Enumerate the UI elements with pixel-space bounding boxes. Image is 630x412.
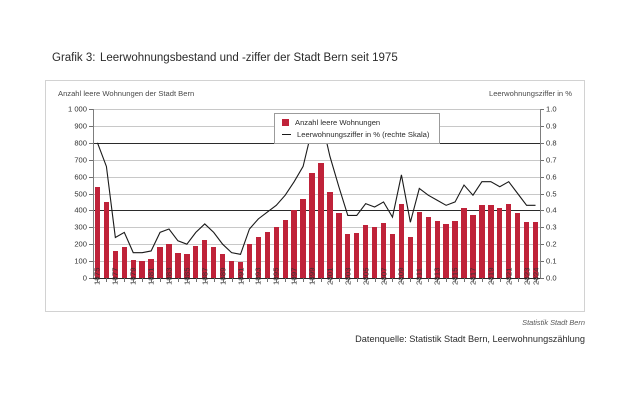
x-tick-label: 1995 <box>272 267 281 285</box>
x-tick-label: 1997 <box>290 267 299 285</box>
x-tick-mark <box>357 278 358 282</box>
x-tick-label: 1985 <box>182 267 191 285</box>
x-tick-label: 2001 <box>325 267 334 285</box>
x-tick-mark <box>410 278 411 282</box>
legend-item-line: Leerwohnungsziffer in % (rechte Skala) <box>282 130 429 139</box>
x-tick-mark <box>500 278 501 282</box>
x-tick-mark <box>214 278 215 282</box>
x-tick-label: 2023 <box>522 267 531 285</box>
x-tick-mark <box>232 278 233 282</box>
x-tick-label: 2007 <box>379 267 388 285</box>
x-tick-label: 2019 <box>486 267 495 285</box>
x-tick-label: 1979 <box>129 267 138 285</box>
x-tick-label: 1999 <box>308 267 317 285</box>
x-tick-mark <box>142 278 143 282</box>
x-tick-label: 2013 <box>433 267 442 285</box>
source-note: Statistik Stadt Bern <box>522 318 585 327</box>
x-tick-mark <box>196 278 197 282</box>
x-tick-label: 1991 <box>236 267 245 285</box>
figure-title-text: Leerwohnungsbestand und -ziffer der Stad… <box>100 52 398 64</box>
x-tick-mark <box>518 278 519 282</box>
x-tick-label: 1977 <box>111 267 120 285</box>
x-tick-label: 2009 <box>397 267 406 285</box>
line-swatch-icon <box>282 134 291 135</box>
x-tick-label: 2024 <box>531 267 540 285</box>
x-tick-mark <box>124 278 125 282</box>
x-tick-mark <box>482 278 483 282</box>
figure-title: Grafik 3:Leerwohnungsbestand und -ziffer… <box>52 52 398 64</box>
x-tick-label: 2003 <box>343 267 352 285</box>
x-tick-mark <box>285 278 286 282</box>
x-tick-mark <box>249 278 250 282</box>
x-tick-mark <box>392 278 393 282</box>
x-tick-label: 1989 <box>218 267 227 285</box>
x-tick-mark <box>375 278 376 282</box>
x-tick-mark <box>428 278 429 282</box>
x-tick-label: 1983 <box>164 267 173 285</box>
x-tick-label: 2011 <box>415 268 424 285</box>
x-tick-label: 2021 <box>504 267 513 285</box>
legend-label-line: Leerwohnungsziffer in % (rechte Skala) <box>297 130 429 139</box>
right-axis-caption: Leerwohnungsziffer in % <box>489 89 572 98</box>
chart-legend: Anzahl leere Wohnungen Leerwohnungsziffe… <box>274 113 440 144</box>
left-axis-caption: Anzahl leere Wohnungen der Stadt Bern <box>58 89 194 98</box>
chart-container: Anzahl leere Wohnungen der Stadt Bern Le… <box>45 80 585 312</box>
x-tick-label: 1987 <box>200 267 209 285</box>
x-tick-mark <box>106 278 107 282</box>
x-tick-mark <box>446 278 447 282</box>
bar-swatch-icon <box>282 119 289 126</box>
legend-label-bars: Anzahl leere Wohnungen <box>295 118 380 127</box>
legend-item-bars: Anzahl leere Wohnungen <box>282 118 429 127</box>
right-axis-line <box>540 109 541 278</box>
x-tick-mark <box>464 278 465 282</box>
x-tick-mark <box>267 278 268 282</box>
x-tick-mark <box>178 278 179 282</box>
x-tick-label: 1981 <box>147 267 156 285</box>
x-tick-mark <box>339 278 340 282</box>
x-tick-mark <box>321 278 322 282</box>
x-tick-label: 2015 <box>451 267 460 285</box>
figure-label: Grafik 3: <box>52 52 100 64</box>
x-tick-label: 2017 <box>468 267 477 285</box>
chart-page: Grafik 3:Leerwohnungsbestand und -ziffer… <box>0 0 630 412</box>
y-tick-mark-right <box>540 278 544 279</box>
x-tick-label: 1993 <box>254 267 263 285</box>
x-tick-label: 2005 <box>361 267 370 285</box>
x-tick-mark <box>303 278 304 282</box>
x-tick-mark <box>160 278 161 282</box>
x-tick-label: 1975 <box>93 267 102 285</box>
source-line: Datenquelle: Statistik Stadt Bern, Leerw… <box>355 334 585 344</box>
